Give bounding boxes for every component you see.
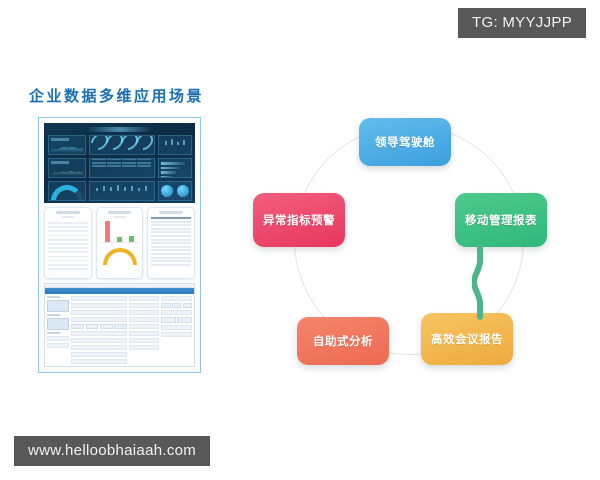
phone-table-screen xyxy=(147,207,195,279)
watermark-bottom-badge: www.helloobhaiaah.com xyxy=(14,436,210,466)
cycle-node-mobile-report[interactable]: 移动管理报表 xyxy=(455,193,547,247)
phone-list-screen xyxy=(44,207,92,279)
bar-chart xyxy=(92,184,152,191)
mobile-report-screens xyxy=(44,207,195,279)
page-title: 企业数据多维应用场景 xyxy=(29,85,204,106)
phone-title-bar xyxy=(56,211,80,214)
area-series-1 xyxy=(51,146,83,152)
kpi-item xyxy=(122,158,136,167)
phone-title-bar xyxy=(108,211,132,214)
pie-charts xyxy=(161,184,189,198)
cycle-node-anomaly-alert[interactable]: 异常指标预警 xyxy=(253,193,345,247)
area-series-2 xyxy=(51,170,83,175)
kpi-row-widget xyxy=(89,158,155,178)
donut-chart xyxy=(51,185,83,201)
area-chart xyxy=(51,143,83,152)
bi-dashboard-screenshot xyxy=(44,123,195,203)
erp-form-screenshot xyxy=(44,283,195,367)
widget-caption xyxy=(51,161,69,164)
erp-main-column xyxy=(71,296,127,365)
column-chart-widget xyxy=(158,135,192,155)
dashboard-title-bar xyxy=(89,127,149,132)
curly-brace-icon xyxy=(472,245,512,320)
phone-chart-screen xyxy=(96,207,144,279)
kpi-item xyxy=(92,158,106,167)
kpi-item xyxy=(137,158,151,167)
stacked-area-chart xyxy=(51,166,83,175)
dashboard-grid xyxy=(48,135,191,201)
kpi-item xyxy=(107,158,121,167)
widget-caption xyxy=(51,138,69,141)
horizontal-bar-widget xyxy=(158,158,192,178)
area-chart-widget xyxy=(48,135,86,155)
kpi-group xyxy=(92,161,152,167)
cycle-node-meeting-report[interactable]: 高效会议报告 xyxy=(421,313,513,365)
phone-title-bar xyxy=(159,211,183,214)
application-scenario-cycle-diagram: 领导驾驶舱 移动管理报表 高效会议报告 自助式分析 异常指标预警 xyxy=(275,105,535,385)
pie-pair-widget xyxy=(158,181,192,201)
dashboard-column-center xyxy=(89,135,155,201)
watermark-top-badge: TG: MYYJJPP xyxy=(458,8,586,38)
erp-form-body xyxy=(45,294,194,367)
phone-subtitle xyxy=(61,216,74,218)
cycle-node-self-service-analysis[interactable]: 自助式分析 xyxy=(297,317,389,365)
slide-canvas: TG: MYYJJPP www.helloobhaiaah.com 企业数据多维… xyxy=(0,0,600,480)
gauge-row-widget xyxy=(89,135,155,155)
erp-action-column xyxy=(161,296,192,365)
gauge-group xyxy=(92,138,152,144)
dashboard-column-right xyxy=(158,135,192,201)
stacked-area-widget xyxy=(48,158,86,178)
cycle-node-leader-cockpit[interactable]: 领导驾驶舱 xyxy=(359,118,451,166)
phone-table xyxy=(151,217,191,266)
phone-gauge-chart xyxy=(103,248,137,265)
phone-list-rows xyxy=(48,222,88,270)
erp-detail-column xyxy=(129,296,160,365)
phone-bar-chart xyxy=(100,220,140,243)
horizontal-bars xyxy=(161,161,189,178)
donut-chart-widget xyxy=(48,181,86,201)
erp-nav-column xyxy=(47,296,69,365)
phone-subtitle xyxy=(113,216,126,218)
column-chart xyxy=(161,138,189,145)
dashboard-column-left xyxy=(48,135,86,201)
bar-chart-widget xyxy=(89,181,155,201)
enterprise-bi-screenshot-collage xyxy=(38,117,201,373)
